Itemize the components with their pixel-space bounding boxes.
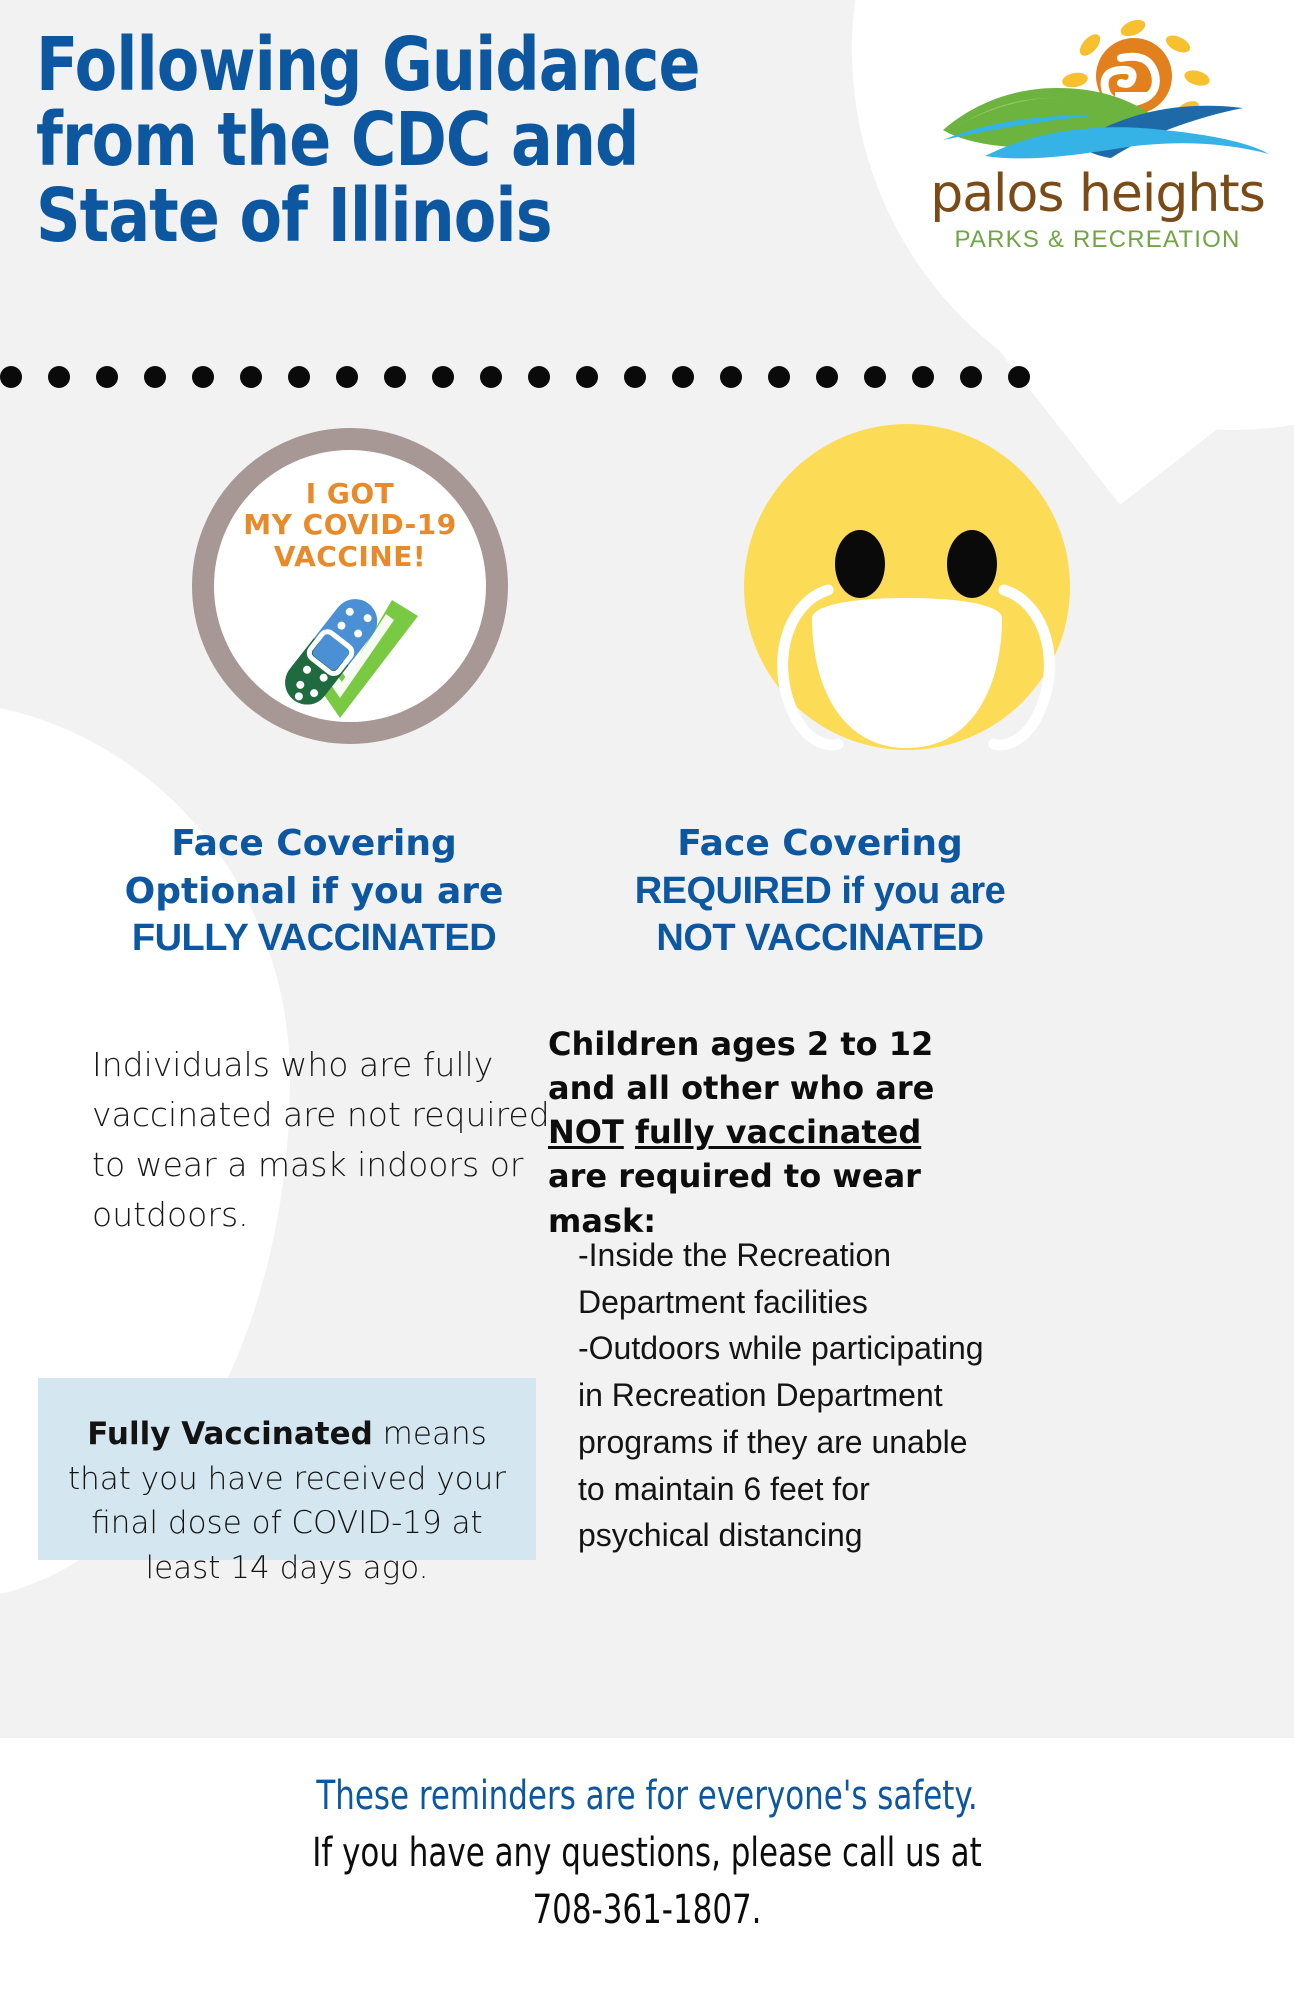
- bandage-and-checkmark-icon: [270, 586, 430, 726]
- page-title-line-2: from the CDC and: [36, 103, 873, 178]
- emoji-left-eye: [835, 530, 885, 598]
- divider-dot: [384, 366, 406, 388]
- badge-line-3: VACCINE!: [192, 541, 508, 572]
- palos-heights-parks-recreation-logo: palos heights PARKS & RECREATION: [925, 18, 1270, 268]
- poster-canvas: Following Guidance from the CDC and Stat…: [0, 0, 1294, 2000]
- divider-dot: [768, 366, 790, 388]
- right-intro-underline-fully-vaccinated: fully vaccinated: [635, 1113, 921, 1151]
- page-title-line-1: Following Guidance: [36, 28, 873, 103]
- right-column-intro: Children ages 2 to 12 and all other who …: [548, 1022, 978, 1243]
- footer: These reminders are for everyone's safet…: [0, 1768, 1294, 1938]
- divider-dot: [0, 366, 22, 388]
- divider-dot: [192, 366, 214, 388]
- right-heading-line-3: NOT VACCINATED: [570, 915, 1070, 962]
- divider-dot: [1008, 366, 1030, 388]
- emoji-right-eye: [947, 530, 997, 598]
- vaccine-badge-icon: I GOT MY COVID-19 VACCINE!: [192, 428, 508, 744]
- footer-line-safety: These reminders are for everyone's safet…: [91, 1768, 1204, 1825]
- masked-face-svg: [742, 422, 1072, 752]
- dotted-divider: [0, 362, 980, 392]
- divider-dot: [816, 366, 838, 388]
- left-column-heading: Face Covering Optional if you are FULLY …: [44, 820, 584, 962]
- divider-dot: [576, 366, 598, 388]
- footer-line-questions: If you have any questions, please call u…: [91, 1825, 1204, 1882]
- fully-vaccinated-callout-box: Fully Vaccinated means that you have rec…: [38, 1378, 536, 1560]
- divider-dot: [864, 366, 886, 388]
- badge-line-1: I GOT: [192, 478, 508, 509]
- right-heading-line-2: REQUIRED if you are: [570, 868, 1070, 915]
- left-heading-line-1: Face Covering: [44, 820, 584, 868]
- footer-phone-number: 708-361-1807.: [91, 1882, 1204, 1939]
- right-intro-part-1: Children ages 2 to 12 and all other who …: [548, 1025, 934, 1107]
- right-intro-underline-not: NOT: [548, 1113, 624, 1151]
- logo-mark-icon: [925, 18, 1270, 168]
- logo-tagline: PARKS & RECREATION: [925, 226, 1270, 254]
- divider-dot: [480, 366, 502, 388]
- divider-dot: [240, 366, 262, 388]
- divider-dot: [672, 366, 694, 388]
- divider-dot: [288, 366, 310, 388]
- right-column-heading: Face Covering REQUIRED if you are NOT VA…: [570, 820, 1070, 962]
- callout-bold-term: Fully Vaccinated: [87, 1416, 373, 1452]
- left-heading-line-3: FULLY VACCINATED: [44, 915, 584, 962]
- list-item: -Inside the Recreation Department facili…: [578, 1232, 998, 1325]
- badge-text: I GOT MY COVID-19 VACCINE!: [192, 478, 508, 572]
- masked-face-emoji-icon: [742, 422, 1072, 752]
- right-column-bullets: -Inside the Recreation Department facili…: [578, 1232, 998, 1559]
- page-title-line-3: State of Illinois: [36, 179, 873, 254]
- logo-wordmark: palos heights: [925, 168, 1270, 220]
- callout-text: Fully Vaccinated means that you have rec…: [54, 1412, 520, 1591]
- left-column-paragraph: Individuals who are fully vaccinated are…: [92, 1040, 562, 1241]
- page-title: Following Guidance from the CDC and Stat…: [36, 28, 873, 254]
- divider-dot: [720, 366, 742, 388]
- divider-dot: [48, 366, 70, 388]
- badge-line-2: MY COVID-19: [192, 509, 508, 540]
- divider-dot: [336, 366, 358, 388]
- divider-dot: [960, 366, 982, 388]
- header: Following Guidance from the CDC and Stat…: [0, 0, 1294, 380]
- divider-dot: [528, 366, 550, 388]
- divider-dot: [144, 366, 166, 388]
- right-intro-space: [624, 1113, 635, 1151]
- right-heading-line-1: Face Covering: [570, 820, 1070, 868]
- list-item: -Outdoors while participating in Recreat…: [578, 1325, 998, 1559]
- divider-dot: [912, 366, 934, 388]
- left-heading-line-2: Optional if you are: [44, 868, 584, 916]
- divider-dot: [624, 366, 646, 388]
- divider-dot: [432, 366, 454, 388]
- right-intro-part-3: are required to wear mask:: [548, 1157, 921, 1239]
- divider-dot: [96, 366, 118, 388]
